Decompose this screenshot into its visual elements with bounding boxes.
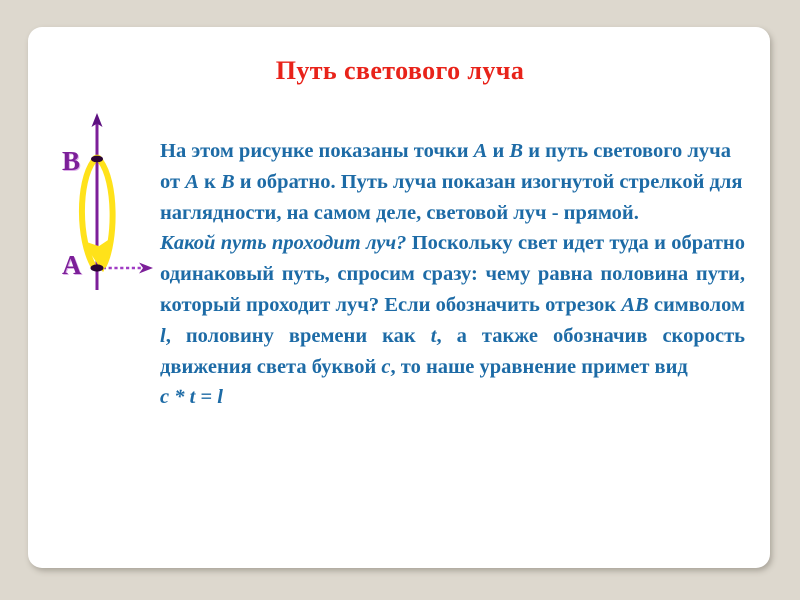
question-phrase: Какой путь проходит луч? [160,232,406,254]
point-b-marker [91,156,103,163]
paragraph-intro-point-a-2: A [185,171,199,193]
paragraph-question: Какой путь проходит луч? Поскольку свет … [160,228,745,382]
paragraph-intro: На этом рисунке показаны точки A и B и п… [160,136,745,228]
symbol-c: c [381,356,390,378]
paragraph-intro-part-1: На этом рисунке показаны точки [160,140,474,162]
body-text-block: На этом рисунке показаны точки A и B и п… [160,136,745,413]
page-title: Путь светового луча [0,56,800,86]
diagram-label-a: A [62,252,82,279]
diagram-svg [40,100,165,300]
paragraph-intro-part-2: и [487,140,509,162]
light-ray-path-diagram: B A [40,100,165,300]
horizontal-arrowhead-icon [139,263,153,274]
question-rest-3: , половину времени как [166,325,431,347]
segment-ab: AB [621,294,648,316]
diagram-label-b: B [62,148,80,175]
paragraph-intro-point-b-2: B [221,171,235,193]
formula-line: c * t = l [160,382,745,413]
paragraph-intro-point-a: A [474,140,488,162]
paragraph-intro-part-5: и обратно. Путь луча показан изогнутой с… [160,171,743,224]
question-rest-5: , то наше уравнение примет вид [391,356,688,378]
question-rest-2: символом [649,294,745,316]
point-a-marker [91,264,104,271]
paragraph-intro-point-b: B [509,140,523,162]
slide-root: Путь светового луча B A [0,0,800,600]
paragraph-intro-part-4: к [199,171,221,193]
